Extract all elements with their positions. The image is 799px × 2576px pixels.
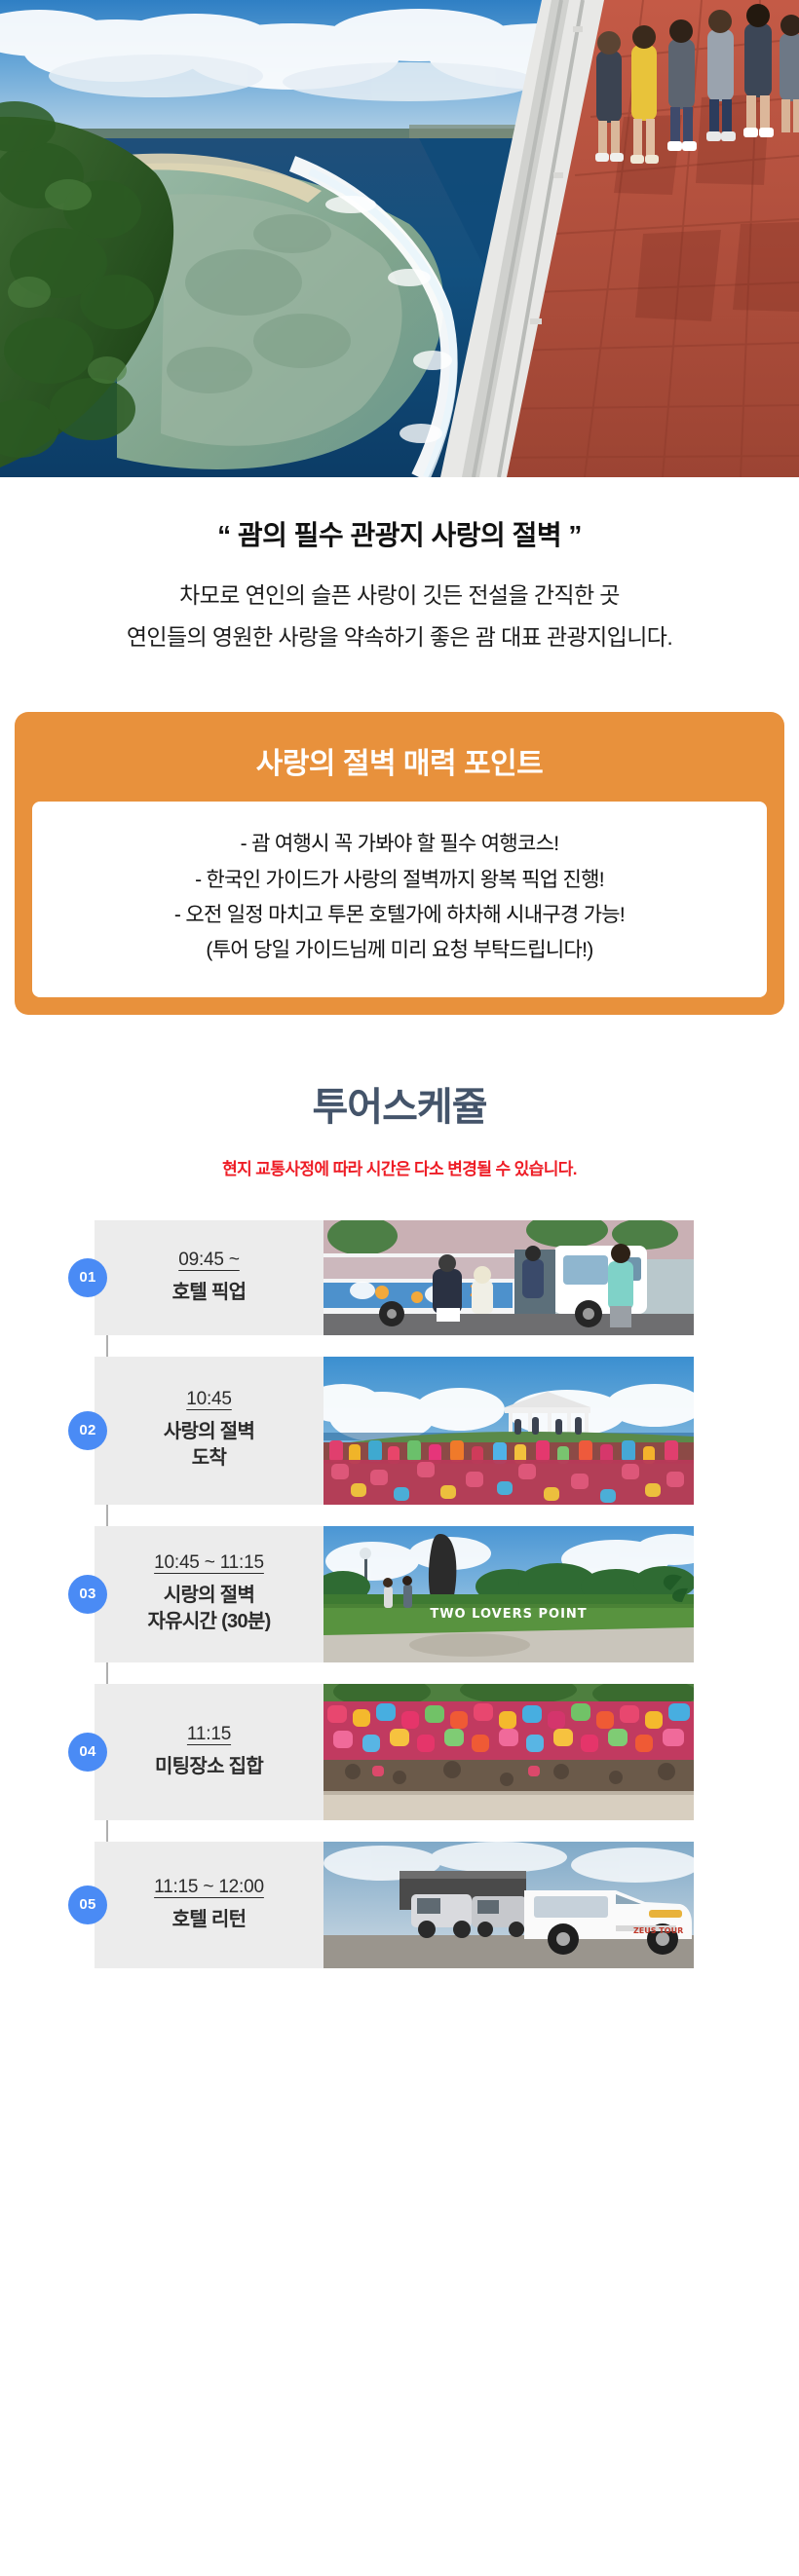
step-badge-04: 04 <box>68 1733 107 1772</box>
intro-line-1: 차모로 연인의 슬픈 사랑이 깃든 전설을 간직한 곳 <box>0 575 799 616</box>
schedule-time: 10:45 <box>186 1389 232 1410</box>
page-headline: “ 괌의 필수 관광지 사랑의 절벽 ” <box>0 518 799 553</box>
schedule-card-01: 09:45 ~ 호텔 픽업 <box>95 1220 694 1335</box>
list-item: - 괌 여행시 꼭 가봐야 할 필수 여행코스! <box>61 827 738 862</box>
intro-block: “ 괌의 필수 관광지 사랑의 절벽 ” 차모로 연인의 슬픈 사랑이 깃든 전… <box>0 477 799 679</box>
van-photo-illustration: ZEUS TOUR <box>323 1842 694 1968</box>
schedule-label: 사랑의 절벽 도착 <box>164 1419 254 1473</box>
hero-photo-illustration <box>0 0 799 477</box>
two-lovers-point-sign-lawn-photo: TWO LOVERS POINT <box>323 1526 694 1662</box>
schedule-label: 호텔 리턴 <box>172 1907 247 1934</box>
step-badge-01: 01 <box>68 1258 107 1297</box>
tour-schedule-timeline: 01 09:45 ~ 호텔 픽업 <box>0 1179 799 2007</box>
schedule-card-03: 10:45 ~ 11:15 시랑의 절벽 자유시간 (30분) <box>95 1526 694 1662</box>
lawn-sign-photo-illustration: TWO LOVERS POINT <box>323 1526 694 1662</box>
list-item: - 한국인 가이드가 사랑의 절벽까지 왕복 픽업 진행! <box>61 863 738 898</box>
schedule-card-text: 10:45 ~ 11:15 시랑의 절벽 자유시간 (30분) <box>95 1526 323 1662</box>
highlight-card: - 괌 여행시 꼭 가봐야 할 필수 여행코스! - 한국인 가이드가 사랑의 … <box>32 802 767 996</box>
timeline-item-04: 04 11:15 미팅장소 집합 <box>0 1684 799 1820</box>
timeline-item-02: 02 10:45 사랑의 절벽 도착 <box>0 1357 799 1505</box>
intro-line-2: 연인들의 영원한 사랑을 약속하기 좋은 괌 대표 관광지입니다. <box>0 616 799 658</box>
step-badge-03: 03 <box>68 1575 107 1614</box>
list-item: (투어 당일 가이드님께 미리 요청 부탁드립니다!) <box>61 933 738 968</box>
svg-text:TWO LOVERS POINT: TWO LOVERS POINT <box>430 1607 587 1622</box>
highlight-section: 사랑의 절벽 매력 포인트 - 괌 여행시 꼭 가봐야 할 필수 여행코스! -… <box>0 679 799 1014</box>
love-locks-fence-photo <box>323 1684 694 1820</box>
highlight-list: - 괌 여행시 꼭 가봐야 할 필수 여행코스! - 한국인 가이드가 사랑의 … <box>61 827 738 967</box>
schedule-card-05: 11:15 ~ 12:00 호텔 리턴 <box>95 1842 694 1968</box>
highlight-box: 사랑의 절벽 매력 포인트 - 괌 여행시 꼭 가봐야 할 필수 여행코스! -… <box>15 712 784 1014</box>
hero-photo <box>0 0 799 477</box>
schedule-title: 투어스케쥴 <box>0 1075 799 1132</box>
bus-photo-illustration: Ze <box>323 1220 694 1335</box>
highlight-title: 사랑의 절벽 매력 포인트 <box>32 739 767 782</box>
schedule-card-text: 11:15 ~ 12:00 호텔 리턴 <box>95 1842 323 1968</box>
schedule-time: 10:45 ~ 11:15 <box>154 1552 264 1574</box>
timeline-item-05: 05 11:15 ~ 12:00 호텔 리턴 <box>0 1842 799 1968</box>
schedule-card-text: 09:45 ~ 호텔 픽업 <box>95 1220 323 1335</box>
white-van-parking-photo: ZEUS TOUR <box>323 1842 694 1968</box>
timeline-item-03: 03 10:45 ~ 11:15 시랑의 절벽 자유시간 (30분) <box>0 1526 799 1662</box>
schedule-time: 11:15 ~ 12:00 <box>154 1877 264 1898</box>
schedule-card-04: 11:15 미팅장소 집합 <box>95 1684 694 1820</box>
svg-text:ZEUS TOUR: ZEUS TOUR <box>633 1926 683 1935</box>
schedule-time: 11:15 <box>187 1724 231 1745</box>
schedule-label: 시랑의 절벽 자유시간 (30분) <box>147 1583 270 1636</box>
schedule-card-text: 11:15 미팅장소 집합 <box>95 1684 323 1820</box>
schedule-label: 호텔 픽업 <box>172 1280 247 1307</box>
list-item: - 오전 일정 마치고 투몬 호텔가에 하차해 시내구경 가능! <box>61 898 738 933</box>
schedule-disclaimer: 현지 교통사정에 따라 시간은 다소 변경될 수 있습니다. <box>0 1155 799 1179</box>
schedule-card-text: 10:45 사랑의 절벽 도착 <box>95 1357 323 1505</box>
tour-bus-boarding-photo: Ze <box>323 1220 694 1335</box>
tour-detail-page: “ 괌의 필수 관광지 사랑의 절벽 ” 차모로 연인의 슬픈 사랑이 깃든 전… <box>0 0 799 2007</box>
schedule-card-02: 10:45 사랑의 절벽 도착 <box>95 1357 694 1505</box>
schedule-label: 미팅장소 집합 <box>155 1754 263 1781</box>
lookout-photo-illustration <box>323 1357 694 1505</box>
step-badge-02: 02 <box>68 1411 107 1450</box>
locks-photo-illustration <box>323 1684 694 1820</box>
schedule-time: 09:45 ~ <box>178 1250 240 1271</box>
two-lovers-point-lookout-photo <box>323 1357 694 1505</box>
step-badge-05: 05 <box>68 1885 107 1924</box>
schedule-header: 투어스케쥴 현지 교통사정에 따라 시간은 다소 변경될 수 있습니다. <box>0 1015 799 1179</box>
timeline-item-01: 01 09:45 ~ 호텔 픽업 <box>0 1220 799 1335</box>
